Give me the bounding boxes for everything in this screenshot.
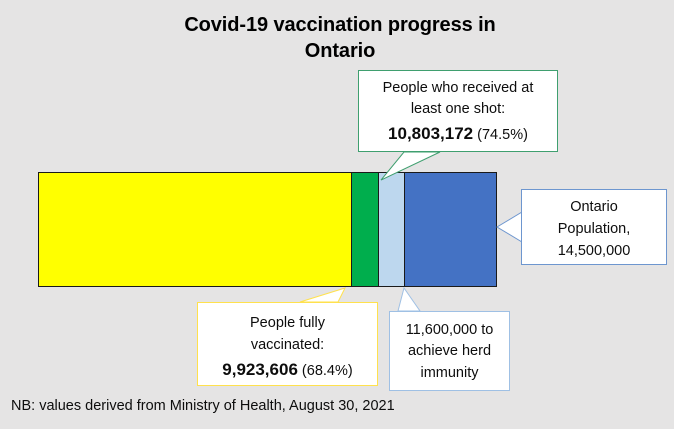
callout-herd-immunity-line-2: achieve herd <box>390 341 509 362</box>
callout-one-dose-line-1: People who received at <box>359 78 557 99</box>
bar-segment-one-dose-increment[interactable] <box>352 173 380 286</box>
callout-tail-herd-immunity <box>398 288 420 311</box>
callout-fully-vaccinated[interactable]: People fully vaccinated: 9,923,606 (68.4… <box>197 302 378 386</box>
bar-segment-herd-immunity-gap[interactable] <box>379 173 404 286</box>
callout-fully-vaccinated-line-1: People fully <box>198 313 377 335</box>
callout-fully-vaccinated-percent: (68.4%) <box>298 363 353 379</box>
callout-herd-immunity-line-3: immunity <box>390 363 509 384</box>
footnote: NB: values derived from Ministry of Heal… <box>11 398 395 414</box>
stacked-bar <box>38 172 497 287</box>
chart-canvas: Covid-19 vaccination progress in Ontario… <box>0 0 674 429</box>
callout-population[interactable]: Ontario Population, 14,500,000 <box>521 189 667 265</box>
chart-title-line-1: Covid-19 vaccination progress in <box>184 14 495 36</box>
chart-title-line-2: Ontario <box>305 40 375 62</box>
bar-segment-remaining-population[interactable] <box>405 173 496 286</box>
callout-herd-immunity-line-1: 11,600,000 to <box>390 320 509 341</box>
callout-tail-population <box>497 212 522 242</box>
callout-population-line-2: Population, <box>522 219 666 241</box>
callout-fully-vaccinated-value-row: 9,923,606 (68.4%) <box>198 357 377 383</box>
callout-herd-immunity[interactable]: 11,600,000 to achieve herd immunity <box>389 311 510 391</box>
chart-title: Covid-19 vaccination progress in Ontario <box>90 12 590 65</box>
callout-population-line-3: 14,500,000 <box>522 241 666 263</box>
callout-one-dose-value: 10,803,172 <box>388 124 473 143</box>
callout-fully-vaccinated-value: 9,923,606 <box>222 360 298 379</box>
callout-fully-vaccinated-line-2: vaccinated: <box>198 335 377 357</box>
callout-one-dose-value-row: 10,803,172 (74.5%) <box>359 121 557 146</box>
callout-one-dose-line-2: least one shot: <box>359 99 557 120</box>
callout-one-dose[interactable]: People who received at least one shot: 1… <box>358 70 558 152</box>
bar-segment-fully-vaccinated[interactable] <box>39 173 352 286</box>
callout-tail-fully-vaccinated <box>300 288 345 302</box>
callout-population-line-1: Ontario <box>522 197 666 219</box>
callout-one-dose-percent: (74.5%) <box>473 127 528 143</box>
